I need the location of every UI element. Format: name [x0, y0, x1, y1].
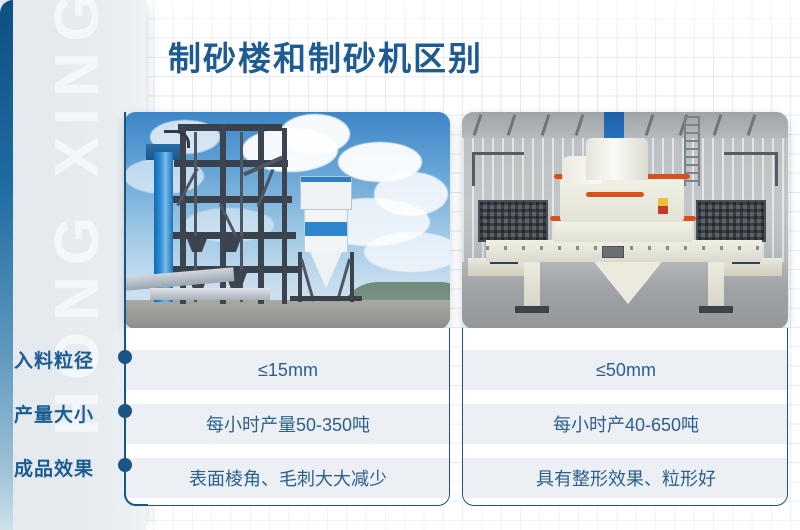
page-title: 制砂楼和制砂机区别 [168, 32, 483, 80]
silo-cylinder [304, 210, 348, 252]
spec-value: 表面棱角、毛刺大大减少 [125, 458, 450, 498]
red-stripe [586, 192, 644, 197]
machine-foot [515, 306, 549, 313]
machine-leg [524, 262, 540, 308]
warning-sticker [658, 198, 668, 214]
mesh-guard [478, 200, 548, 242]
machine-leg [708, 262, 724, 308]
connector-curve [124, 482, 148, 506]
spec-panel-right: ≤50mm 每小时产40-650吨 具有整形效果、粒形好 [462, 328, 788, 506]
tower-deck [178, 124, 282, 131]
spec-value: ≤50mm [463, 350, 788, 390]
vsi-sand-making-machine-photo [462, 112, 788, 329]
machine-foot [699, 306, 733, 313]
platform-railing [724, 152, 778, 186]
silo-top-box [300, 176, 352, 210]
silo-cone [310, 252, 342, 288]
connector-dot [118, 458, 132, 472]
row-label-feed-size: 入料粒径 [14, 346, 110, 373]
base-bolts [486, 246, 762, 250]
machine-skirt [554, 220, 692, 242]
spec-value: 每小时产量50-350吨 [125, 404, 450, 444]
platform-railing [472, 152, 524, 186]
comparison-column-left: ≤15mm 每小时产量50-350吨 表面棱角、毛刺大大减少 [124, 112, 450, 506]
row-label-product: 成品效果 [14, 454, 110, 481]
ground [124, 300, 450, 329]
conveyor [150, 288, 270, 300]
connector-dot [118, 404, 132, 418]
tower-deck [172, 196, 292, 203]
cloud [364, 232, 450, 272]
sand-making-tower-photo [124, 112, 450, 329]
connector-dot [118, 350, 132, 364]
spec-value: 每小时产40-650吨 [463, 404, 788, 444]
cloud [280, 114, 350, 154]
roof-beams [462, 112, 788, 138]
spec-panel-left: ≤15mm 每小时产量50-350吨 表面棱角、毛刺大大减少 [124, 328, 450, 506]
wall-banner [604, 112, 624, 138]
mesh-guard [696, 200, 766, 242]
machine-base [486, 240, 762, 262]
tower-column [258, 126, 264, 304]
connector-line [124, 112, 126, 494]
tower-column [282, 128, 287, 304]
row-label-capacity: 产量大小 [14, 400, 110, 427]
comparison-column-right: ≤50mm 每小时产40-650吨 具有整形效果、粒形好 [462, 112, 788, 506]
spec-value: ≤15mm [125, 350, 450, 390]
spec-value: 具有整形效果、粒形好 [463, 458, 788, 498]
discharge-chute [594, 262, 662, 304]
feed-tube [586, 138, 648, 180]
control-plate [602, 246, 624, 258]
comparison-infographic: HONG XING 制砂楼和制砂机区别 [0, 0, 800, 530]
